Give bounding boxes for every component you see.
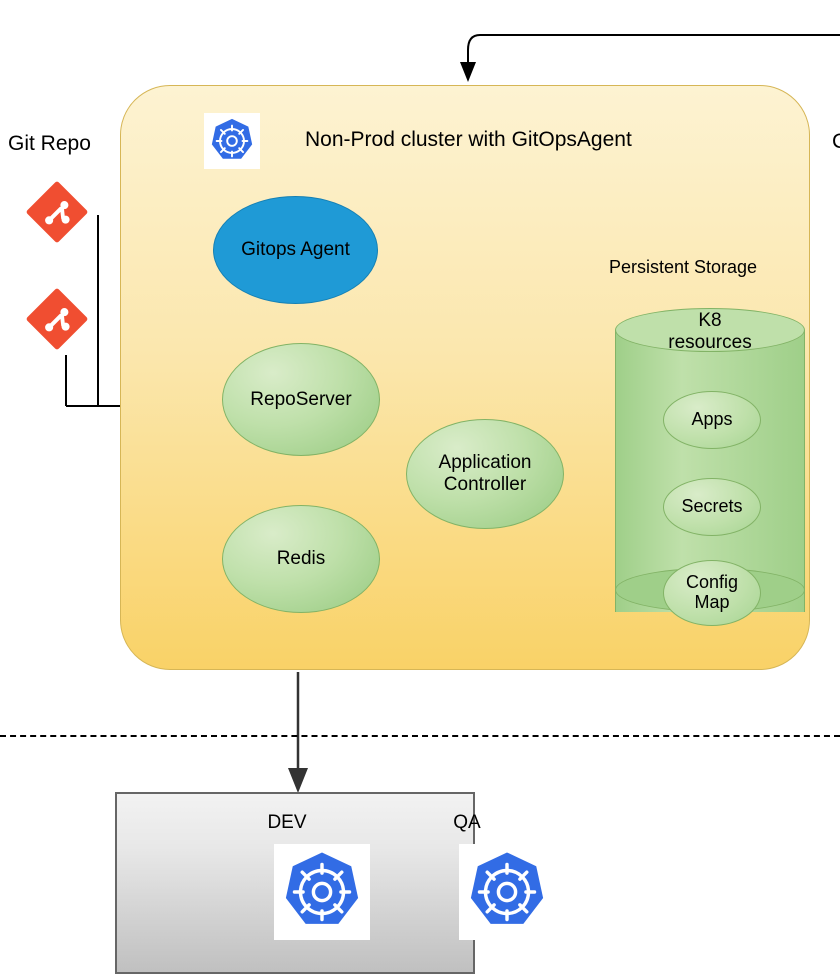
git-repo-label: Git Repo bbox=[8, 132, 91, 156]
app-ctrl-line2: Controller bbox=[444, 474, 526, 495]
node-gitops-agent[interactable]: Gitops Agent bbox=[213, 196, 378, 304]
cluster-title: Non-Prod cluster with GitOpsAgent bbox=[305, 128, 765, 152]
storage-item-config-map[interactable]: Config Map bbox=[663, 560, 761, 626]
node-reposerver-label: RepoServer bbox=[250, 389, 351, 411]
node-application-controller[interactable]: Application Controller bbox=[406, 419, 564, 529]
node-application-controller-label: Application Controller bbox=[439, 452, 532, 496]
diagram-canvas: Non-Prod cluster with GitOpsAgent Gitops… bbox=[0, 0, 840, 974]
environment-label-qa: QA bbox=[407, 812, 527, 834]
git-icon[interactable] bbox=[26, 288, 88, 350]
config-map-line2: Map bbox=[694, 592, 729, 612]
edge-external-to-cluster bbox=[468, 35, 840, 78]
kubernetes-icon[interactable] bbox=[459, 844, 555, 940]
node-reposerver[interactable]: RepoServer bbox=[222, 343, 380, 456]
node-gitops-agent-label: Gitops Agent bbox=[241, 239, 350, 261]
storage-item-apps-label: Apps bbox=[691, 410, 732, 430]
kubernetes-icon bbox=[204, 113, 260, 169]
storage-item-apps[interactable]: Apps bbox=[663, 391, 761, 449]
persistent-storage-cylinder: K8 resources Apps Secrets Config Map bbox=[615, 308, 805, 633]
cutoff-label: C bbox=[832, 130, 840, 154]
environment-label-dev: DEV bbox=[227, 812, 347, 834]
cylinder-title-line2: resources bbox=[668, 332, 751, 353]
kubernetes-icon[interactable] bbox=[274, 844, 370, 940]
app-ctrl-line1: Application bbox=[439, 452, 532, 473]
node-redis-label: Redis bbox=[277, 548, 326, 570]
persistent-storage-label: Persistent Storage bbox=[578, 257, 788, 278]
cylinder-title: K8 resources bbox=[615, 310, 805, 354]
storage-item-config-map-label: Config Map bbox=[686, 573, 738, 613]
environments-box: DEV QA bbox=[115, 792, 475, 974]
storage-item-secrets-label: Secrets bbox=[681, 497, 742, 517]
git-icon[interactable] bbox=[26, 181, 88, 243]
cylinder-title-line1: K8 bbox=[698, 310, 721, 331]
node-redis[interactable]: Redis bbox=[222, 505, 380, 613]
storage-item-secrets[interactable]: Secrets bbox=[663, 478, 761, 536]
config-map-line1: Config bbox=[686, 572, 738, 592]
dashed-divider bbox=[0, 735, 840, 737]
